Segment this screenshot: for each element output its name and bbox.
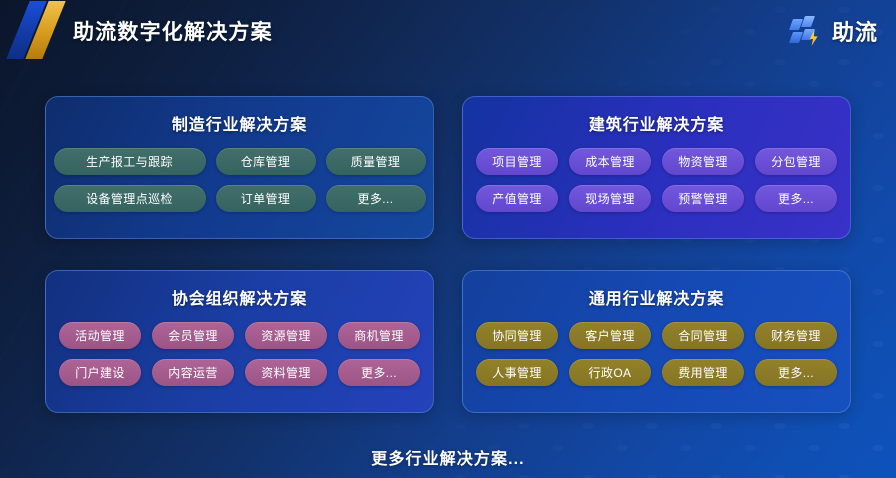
solution-pill[interactable]: 订单管理 bbox=[216, 185, 316, 212]
solution-pill[interactable]: 资料管理 bbox=[245, 359, 327, 386]
solution-pill[interactable]: 商机管理 bbox=[338, 322, 420, 349]
card-pill-grid: 项目管理 成本管理 物资管理 分包管理 产值管理 现场管理 预警管理 更多... bbox=[463, 148, 850, 212]
card-pill-grid: 生产报工与跟踪 仓库管理 质量管理 设备管理点巡检 订单管理 更多... bbox=[46, 148, 433, 212]
solution-pill[interactable]: 活动管理 bbox=[59, 322, 141, 349]
solution-pill-more[interactable]: 更多... bbox=[338, 359, 420, 386]
card-pill-grid: 活动管理 会员管理 资源管理 商机管理 门户建设 内容运营 资料管理 更多... bbox=[46, 322, 433, 386]
mark-bar-2 bbox=[801, 16, 815, 27]
solution-pill[interactable]: 项目管理 bbox=[476, 148, 558, 175]
solution-pill-more[interactable]: 更多... bbox=[326, 185, 426, 212]
slash-mark-icon bbox=[16, 5, 60, 57]
brand-right: 助流 bbox=[789, 15, 878, 47]
solution-pill[interactable]: 费用管理 bbox=[662, 359, 744, 386]
solution-pill[interactable]: 物资管理 bbox=[662, 148, 744, 175]
solution-pill[interactable]: 客户管理 bbox=[569, 322, 651, 349]
card-title: 通用行业解决方案 bbox=[463, 285, 850, 309]
solution-pill[interactable]: 协同管理 bbox=[476, 322, 558, 349]
solution-pill[interactable]: 会员管理 bbox=[152, 322, 234, 349]
card-title: 制造行业解决方案 bbox=[46, 111, 433, 135]
solution-pill[interactable]: 资源管理 bbox=[245, 322, 327, 349]
solution-pill[interactable]: 门户建设 bbox=[59, 359, 141, 386]
solution-pill[interactable]: 合同管理 bbox=[662, 322, 744, 349]
card-title: 协会组织解决方案 bbox=[46, 285, 433, 309]
solution-pill[interactable]: 内容运营 bbox=[152, 359, 234, 386]
solution-pill[interactable]: 现场管理 bbox=[569, 185, 651, 212]
bolt-mark-icon bbox=[789, 16, 823, 46]
footer-more-solutions[interactable]: 更多行业解决方案... bbox=[0, 445, 896, 469]
solution-pill[interactable]: 人事管理 bbox=[476, 359, 558, 386]
solution-pill[interactable]: 仓库管理 bbox=[216, 148, 316, 175]
card-title: 建筑行业解决方案 bbox=[463, 111, 850, 135]
solution-card-construction: 建筑行业解决方案 项目管理 成本管理 物资管理 分包管理 产值管理 现场管理 预… bbox=[462, 96, 851, 239]
brand-left: 助流数字化解决方案 bbox=[16, 5, 273, 57]
page-title: 助流数字化解决方案 bbox=[73, 16, 273, 46]
solution-pill[interactable]: 成本管理 bbox=[569, 148, 651, 175]
solution-card-grid: 制造行业解决方案 生产报工与跟踪 仓库管理 质量管理 设备管理点巡检 订单管理 … bbox=[45, 96, 851, 413]
solution-pill[interactable]: 设备管理点巡检 bbox=[54, 185, 206, 212]
solution-pill[interactable]: 生产报工与跟踪 bbox=[54, 148, 206, 175]
solution-pill[interactable]: 质量管理 bbox=[326, 148, 426, 175]
solution-pill[interactable]: 分包管理 bbox=[755, 148, 837, 175]
brand-name: 助流 bbox=[832, 15, 878, 47]
solution-card-general: 通用行业解决方案 协同管理 客户管理 合同管理 财务管理 人事管理 行政OA 费… bbox=[462, 270, 851, 413]
solution-pill-more[interactable]: 更多... bbox=[755, 359, 837, 386]
solution-card-manufacturing: 制造行业解决方案 生产报工与跟踪 仓库管理 质量管理 设备管理点巡检 订单管理 … bbox=[45, 96, 434, 239]
page-root: 助流数字化解决方案 助流 制造行业解决方案 生产报工与跟踪 仓库管理 质量管理 … bbox=[0, 0, 896, 478]
solution-pill[interactable]: 行政OA bbox=[569, 359, 651, 386]
solution-card-association: 协会组织解决方案 活动管理 会员管理 资源管理 商机管理 门户建设 内容运营 资… bbox=[45, 270, 434, 413]
page-header: 助流数字化解决方案 助流 bbox=[0, 0, 896, 62]
solution-pill-more[interactable]: 更多... bbox=[755, 185, 837, 212]
solution-pill[interactable]: 预警管理 bbox=[662, 185, 744, 212]
solution-pill[interactable]: 产值管理 bbox=[476, 185, 558, 212]
card-pill-grid: 协同管理 客户管理 合同管理 财务管理 人事管理 行政OA 费用管理 更多... bbox=[463, 322, 850, 386]
solution-pill[interactable]: 财务管理 bbox=[755, 322, 837, 349]
